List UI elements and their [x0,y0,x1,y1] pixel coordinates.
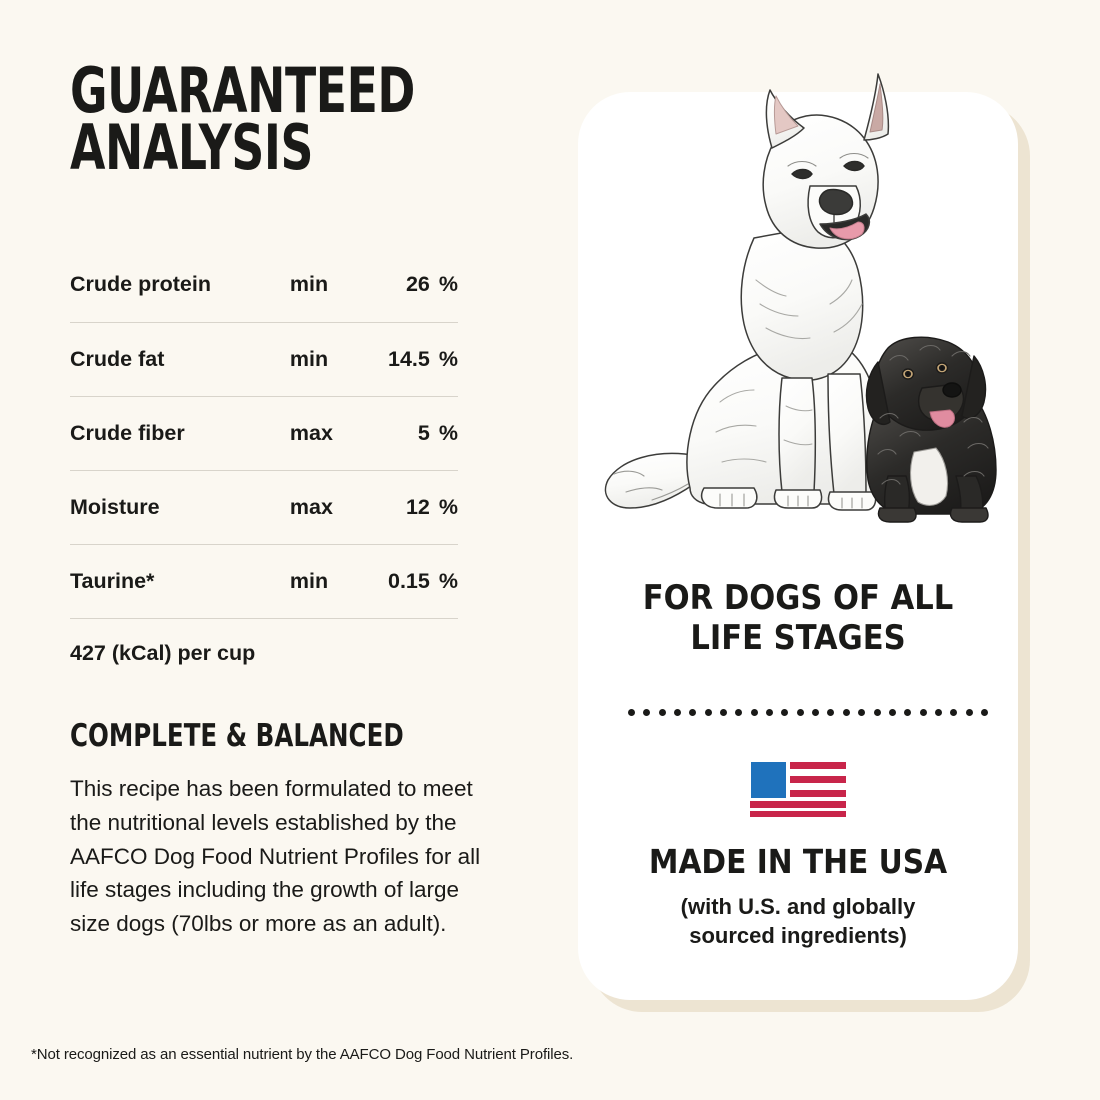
divider-dot [797,709,804,716]
nutrient-name: Crude fiber [70,396,290,470]
nutrient-qualifier: min [290,248,368,322]
divider-dot [643,709,650,716]
nutrient-qualifier: min [290,322,368,396]
nutrient-unit: % [430,396,458,470]
nutrient-qualifier: max [290,470,368,544]
table-row: Crude fat min 14.5 % [70,322,458,396]
divider-dot [874,709,881,716]
complete-balanced-section: COMPLETE & BALANCED This recipe has been… [70,718,500,941]
nutrient-value: 12 [368,470,430,544]
divider-dot [735,709,742,716]
table-row: Moisture max 12 % [70,470,458,544]
nutrient-value: 14.5 [368,322,430,396]
divider-dot [950,709,957,716]
nutrition-table-body: Crude protein min 26 % Crude fat min 14.… [70,248,458,618]
divider-dot [689,709,696,716]
taurine-footnote: *Not recognized as an essential nutrient… [31,1046,573,1063]
nutrition-table: Crude protein min 26 % Crude fat min 14.… [70,248,458,618]
divider-dot [659,709,666,716]
divider-dot [858,709,865,716]
divider-dot [628,709,635,716]
nutrient-value: 0.15 [368,544,430,618]
table-row: Crude fiber max 5 % [70,396,458,470]
nutrient-qualifier: max [290,396,368,470]
divider-dot [889,709,896,716]
nutrient-value: 26 [368,248,430,322]
divider-dot [766,709,773,716]
divider-dot [966,709,973,716]
divider-dot [720,709,727,716]
divider-dot [981,709,988,716]
divider-dot [751,709,758,716]
dotted-divider [628,708,988,716]
complete-balanced-heading: COMPLETE & BALANCED [70,718,448,754]
complete-balanced-body: This recipe has been formulated to meet … [70,772,500,941]
table-row: Crude protein min 26 % [70,248,458,322]
divider-dot [920,709,927,716]
divider-dot [781,709,788,716]
nutrient-name: Moisture [70,470,290,544]
nutrition-panel: GUARANTEED ANALYSIS Crude protein min 26… [0,0,1100,1100]
nutrient-unit: % [430,322,458,396]
divider-dot [827,709,834,716]
page-title: GUARANTEED ANALYSIS [70,62,398,176]
nutrient-name: Taurine* [70,544,290,618]
nutrient-value: 5 [368,396,430,470]
divider-dot [935,709,942,716]
nutrient-unit: % [430,248,458,322]
divider-dot [843,709,850,716]
table-row: Taurine* min 0.15 % [70,544,458,618]
divider-dot [904,709,911,716]
calorie-content: 427 (kCal) per cup [70,618,458,666]
nutrient-unit: % [430,470,458,544]
divider-dot [674,709,681,716]
nutrient-name: Crude fat [70,322,290,396]
made-in-usa-subtitle: (with U.S. and globally sourced ingredie… [578,892,1018,951]
guaranteed-analysis-section: GUARANTEED ANALYSIS Crude protein min 26… [70,62,470,941]
nutrient-name: Crude protein [70,248,290,322]
usa-flag-icon [750,761,846,817]
divider-dot [812,709,819,716]
life-stages-headline: FOR DOGS OF ALL LIFE STAGES [578,578,1018,658]
divider-dot [705,709,712,716]
made-in-usa-title: MADE IN THE USA [578,842,1018,881]
nutrient-qualifier: min [290,544,368,618]
nutrient-unit: % [430,544,458,618]
